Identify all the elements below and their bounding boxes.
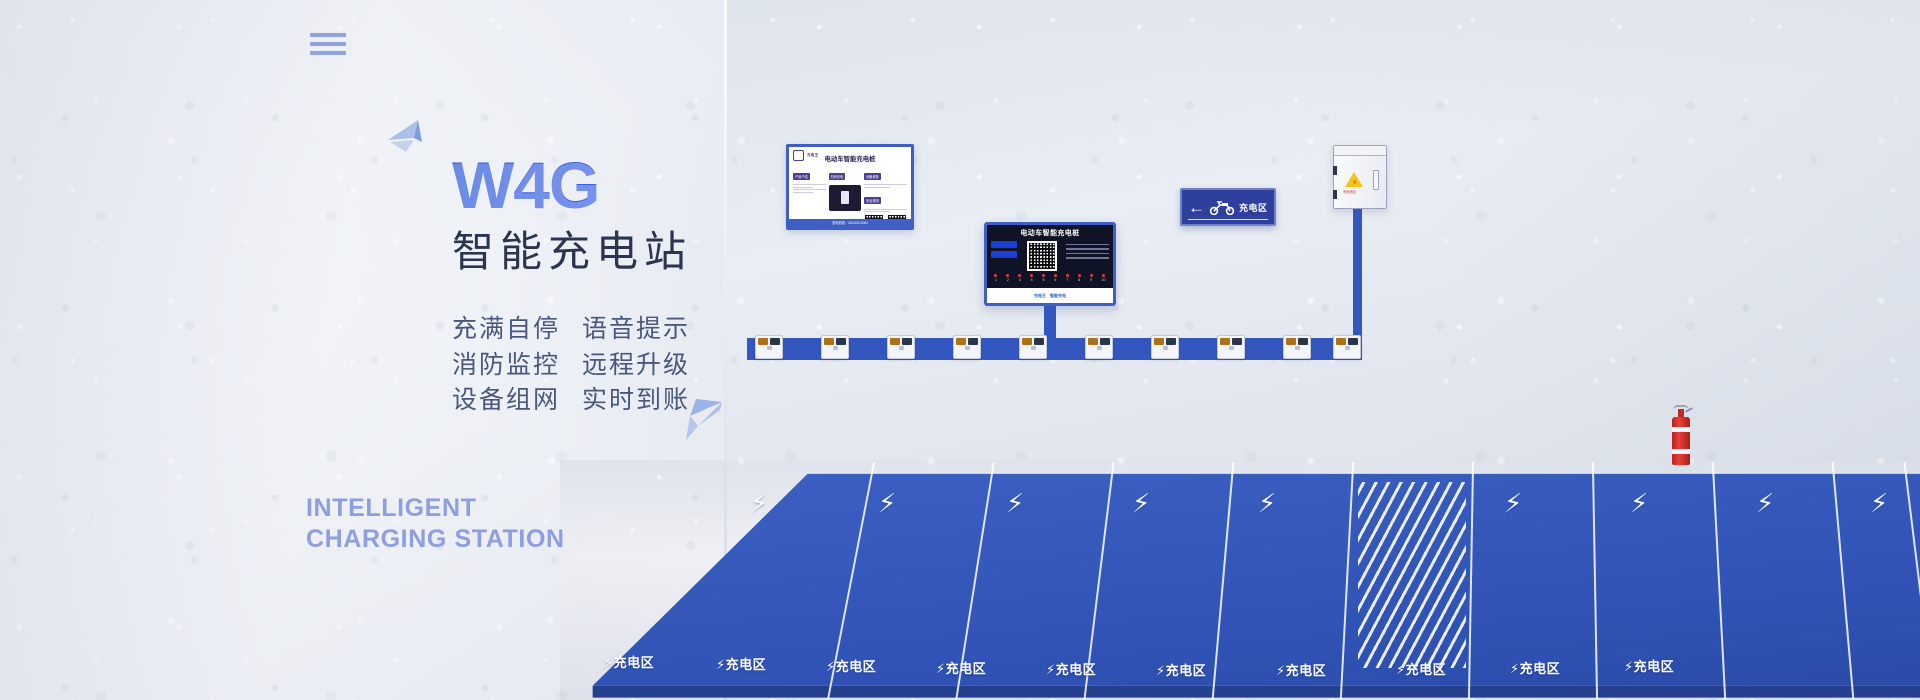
menu-bar-1 [310,33,346,37]
pile-port-number: 8 [1078,278,1081,282]
sign-label: 充电区 [1239,201,1268,214]
cabinet-hinge [1333,190,1337,199]
bay-label: ⚡充电区 [716,654,766,673]
feature-right: 实时到账 [582,383,690,419]
bay-label: ⚡充电区 [1276,660,1326,679]
warning-bolt-glyph: ⚡ [1352,179,1358,187]
english-line-2: CHARGING STATION [306,524,565,555]
pile-body [987,238,1113,271]
pile-port: 4 [1030,274,1033,282]
charging-plug-icon: ⚡ [1756,490,1774,516]
wall-socket [1333,335,1361,359]
bay-label: ⚡充电区 [1156,660,1206,679]
bay-label: ⚡充电区 [1046,659,1096,678]
pile-title: 电动车智能充电桩 [987,228,1113,238]
banner-root: W4G 智能充电站 充满自停 语音提示 消防监控 远程升级 设备组网 实时到账 … [0,0,1920,700]
extinguisher-body [1672,417,1690,465]
feature-left: 充满自停 [452,312,582,348]
cabinet-conduit [1353,209,1362,343]
poster-text-line [864,211,890,212]
pile-port-number: 3 [1018,278,1021,282]
pile-port: 5 [1042,274,1045,282]
pile-footer: 充电王 智能充电 [987,288,1113,303]
pile-port-led-icon [994,274,997,277]
wall-socket [1283,335,1311,359]
poster-brand: 充电王 [807,153,818,158]
poster-tag: 设备参数 [864,173,881,180]
wall-poster: 充电王 电动车智能充电桩 产品介绍 扫码充电 设备参数 安全说明 [786,144,914,230]
pile-port-led-icon [1030,274,1033,277]
wall-socket [821,335,849,359]
page-title: W4G [452,152,742,218]
feature-left: 设备组网 [452,383,582,419]
pile-port-led-icon [1066,274,1069,277]
feature-right: 语音提示 [582,312,690,348]
extinguisher-band [1672,427,1690,432]
poster-text-line [793,184,826,185]
pile-port-number: 4 [1030,278,1033,282]
fire-extinguisher-icon [1672,403,1690,465]
charging-pile-device: 电动车智能充电桩 1 2 3 4 5 6 7 8 9 [984,222,1116,306]
poster-section: 安全说明 [864,197,881,204]
poster-logo-icon [793,150,804,161]
hamburger-menu-icon[interactable] [310,33,346,55]
pile-spec-line [1066,248,1109,249]
pile-qr-icon [1027,241,1057,271]
feature-row: 设备组网 实时到账 [452,383,742,419]
pile-port-led-icon [1006,274,1009,277]
scooter-icon [1209,199,1235,215]
charging-plug-icon: ⚡ [1258,490,1276,516]
feature-right: 远程升级 [582,348,690,384]
poster-footer: 咨询热线：400-000-0000 [789,219,911,227]
cabinet-handle [1373,170,1379,190]
electrical-cabinet: ⚡ 有电危险 [1333,145,1387,209]
pile-spec-line [1066,253,1109,254]
pile-port: 9 [1090,274,1093,282]
feature-left: 消防监控 [452,348,582,384]
hero-copy: W4G 智能充电站 充满自停 语音提示 消防监控 远程升级 设备组网 实时到账 [452,152,742,419]
poster-tag: 产品介绍 [793,173,810,180]
charging-plug-icon: ⚡ [1870,490,1888,516]
wall-socket-rail [747,338,1362,360]
charging-plug-icon: ⚡ [750,490,768,516]
poster-text-line [793,187,813,188]
pile-port: 6 [1054,274,1057,282]
hatched-no-parking-zone [1358,482,1466,668]
menu-bar-3 [310,51,346,55]
poster-tag: 扫码充电 [829,173,846,180]
wall-socket [755,335,783,359]
pile-display-column [991,241,1017,271]
pile-brand: 充电王 [1034,293,1046,299]
pile-port: 1 [994,274,997,282]
wall-socket [953,335,981,359]
pile-port-number: 6 [1054,278,1057,282]
charging-plug-icon: ⚡ [1006,490,1024,516]
pile-screen-1 [991,241,1017,248]
extinguisher-band [1672,449,1690,454]
pile-qr-column [1020,241,1063,271]
poster-text-line [864,184,907,185]
english-line-1: INTELLIGENT [306,493,565,524]
pile-port: 10 [1101,274,1105,282]
pile-screen-2 [991,251,1017,258]
feature-row: 消防监控 远程升级 [452,348,742,384]
pile-port: 7 [1066,274,1069,282]
pile-port-number: 10 [1101,278,1105,282]
bay-label: ⚡充电区 [826,656,876,675]
pile-port-led-icon [1054,274,1057,277]
left-arrow-icon: ← [1188,199,1205,216]
sign-underline [1188,219,1268,221]
parking-bay[interactable] [1710,462,1855,700]
pile-port-number: 5 [1042,278,1045,282]
poster-device-image [829,185,862,211]
wall-socket [1085,335,1113,359]
pile-port-number: 1 [994,278,997,282]
bay-label: ⚡充电区 [1510,658,1560,677]
direction-sign: ← 充电区 [1180,188,1276,226]
pile-spec-line [1066,257,1109,258]
pile-port: 8 [1078,274,1081,282]
wall-socket [887,335,915,359]
parking-floor: ⚡ ⚡ ⚡ ⚡ ⚡ ⚡ ⚡ ⚡ ⚡ ⚡充电区 ⚡充电区 ⚡充电区 ⚡充电区 ⚡充… [560,462,1920,700]
pile-port-led-icon [1078,274,1081,277]
pile-port-led-icon [1090,274,1093,277]
bay-label: ⚡充电区 [936,658,986,677]
poster-text-line [864,209,907,210]
charging-plug-icon: ⚡ [1132,490,1150,516]
charging-plug-icon: ⚡ [878,490,896,516]
feature-row: 充满自停 语音提示 [452,312,742,348]
wall-socket [1019,335,1047,359]
bay-label: ⚡充电区 [1624,656,1674,675]
pile-brand-sub: 智能充电 [1050,293,1066,299]
bay-label: ⚡充电区 [1396,659,1446,678]
feature-list: 充满自停 语音提示 消防监控 远程升级 设备组网 实时到账 [452,312,742,419]
pile-port-number: 9 [1090,278,1093,282]
charging-plug-icon: ⚡ [1630,490,1648,516]
pile-port-number: 7 [1066,278,1069,282]
menu-bar-2 [310,42,346,46]
poster-text-line [793,189,826,190]
wall-socket [1217,335,1245,359]
pile-port: 3 [1018,274,1021,282]
page-subtitle: 智能充电站 [452,228,742,276]
pile-port-led-icon [1042,274,1045,277]
wall-socket [1151,335,1179,359]
right-wall-panel [725,0,1920,462]
pile-port-number: 2 [1006,278,1009,282]
pile-port-led-icon [1102,274,1105,277]
cabinet-hinge [1333,166,1337,175]
pile-spec-line [1066,244,1109,245]
english-tagline: INTELLIGENT CHARGING STATION [306,493,565,554]
pile-port-led-icon [1018,274,1021,277]
pile-spec-column [1066,241,1109,271]
cabinet-top-cap [1334,146,1386,156]
cabinet-warning-label: 有电危险 [1343,189,1356,194]
bay-label: ⚡充电区 [604,652,654,671]
pile-port: 2 [1006,274,1009,282]
poster-text-line [864,187,890,188]
poster-text-line [793,192,813,193]
pile-port-row: 1 2 3 4 5 6 7 8 9 10 [987,274,1113,282]
charging-plug-icon: ⚡ [1504,490,1522,516]
